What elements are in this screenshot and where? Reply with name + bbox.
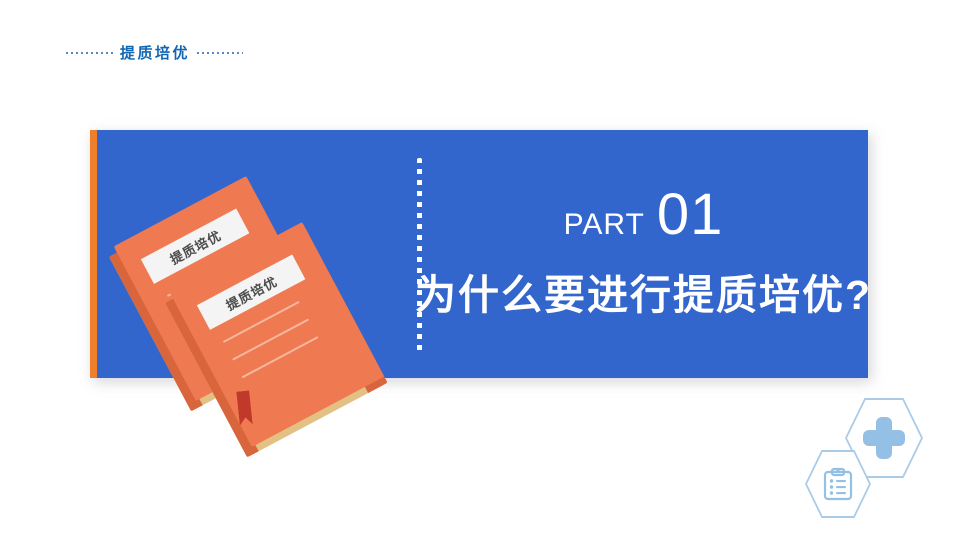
slide-canvas: 提质培优 PART 01 为什么要进行提质培优? 提质培优 xyxy=(0,0,959,539)
section-heading: 为什么要进行提质培优? xyxy=(415,273,872,318)
banner-dotted-divider xyxy=(417,158,422,353)
part-word: PART xyxy=(564,210,645,240)
decorative-hexagons xyxy=(805,398,940,518)
part-number: 01 xyxy=(657,186,724,244)
clipboard-icon-wrap xyxy=(823,467,853,501)
clipboard-icon xyxy=(823,467,853,501)
header-dash-right xyxy=(197,52,243,54)
books-illustration: 提质培优 提质培优 xyxy=(140,195,380,440)
part-label: PART 01 xyxy=(564,186,724,244)
banner-text-block: PART 01 为什么要进行提质培优? xyxy=(437,162,850,358)
book-rule xyxy=(232,319,309,361)
book-rule xyxy=(242,336,319,378)
page-title: 提质培优 xyxy=(120,46,190,61)
banner-accent-bar xyxy=(90,130,97,378)
header-dash-left xyxy=(66,52,113,54)
slide-header: 提质培优 xyxy=(66,41,243,65)
plus-icon-wrap xyxy=(863,417,905,459)
plus-icon xyxy=(863,417,905,459)
